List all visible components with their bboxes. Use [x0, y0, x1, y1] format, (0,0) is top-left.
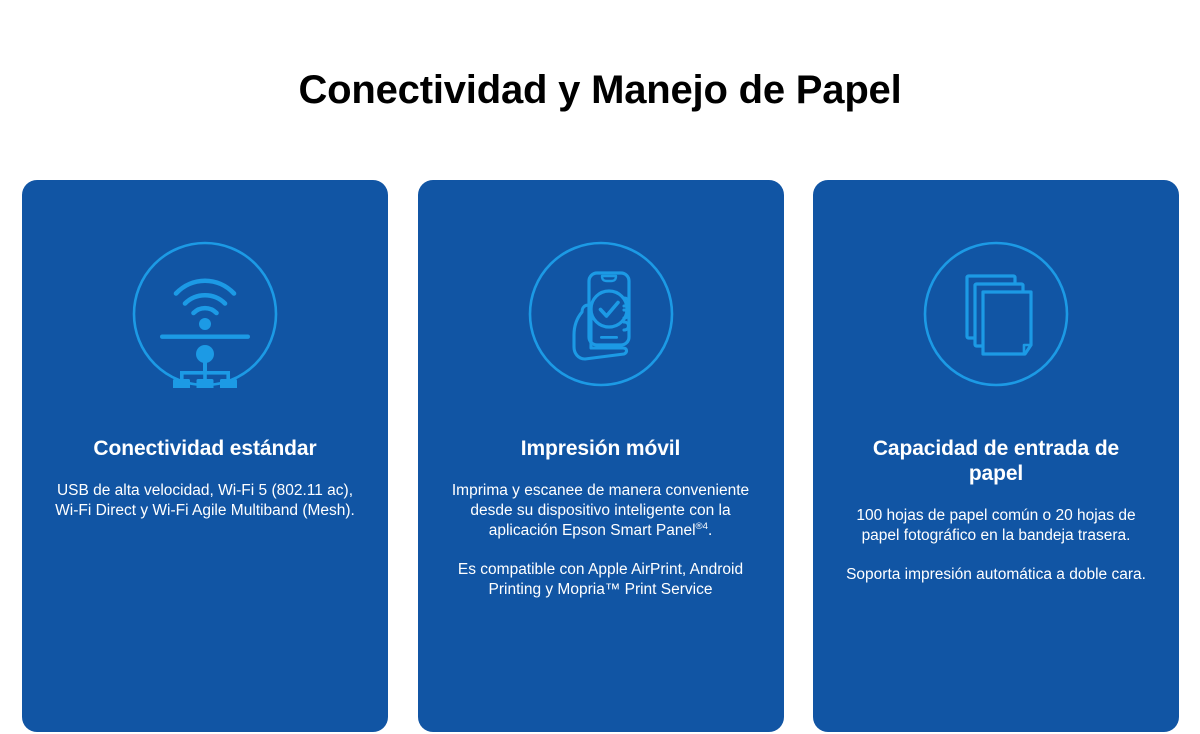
feature-cards: Conectividad estándar USB de alta veloci… — [22, 180, 1179, 732]
card-title: Impresión móvil — [451, 436, 751, 461]
feature-card-paper-capacity[interactable]: Capacidad de entrada de papel 100 hojas … — [813, 180, 1179, 732]
footnote-marker: ®4 — [696, 521, 708, 532]
mobile-print-icon — [527, 240, 675, 388]
card-title: Conectividad estándar — [55, 436, 355, 461]
wifi-network-icon — [131, 240, 279, 388]
card-body-text-secondary: Soporta impresión automática a doble car… — [846, 565, 1146, 585]
card-title: Capacidad de entrada de papel — [846, 436, 1146, 486]
page-title: Conectividad y Manejo de Papel — [0, 62, 1200, 118]
feature-card-mobile-printing[interactable]: Impresión móvil Imprima y escanee de man… — [418, 180, 784, 732]
card-body-text: USB de alta velocidad, Wi-Fi 5 (802.11 a… — [55, 481, 355, 521]
card-body-text-secondary: Es compatible con Apple AirPrint, Androi… — [451, 560, 751, 600]
card-body-text: Imprima y escanee de manera conveniente … — [451, 481, 751, 541]
card-body-text: 100 hojas de papel común o 20 hojas de p… — [846, 506, 1146, 546]
card-body-suffix: . — [708, 522, 712, 539]
feature-panel: Conectividad y Manejo de Papel — [0, 0, 1200, 734]
feature-card-connectivity[interactable]: Conectividad estándar USB de alta veloci… — [22, 180, 388, 732]
paper-stack-icon — [922, 240, 1070, 388]
